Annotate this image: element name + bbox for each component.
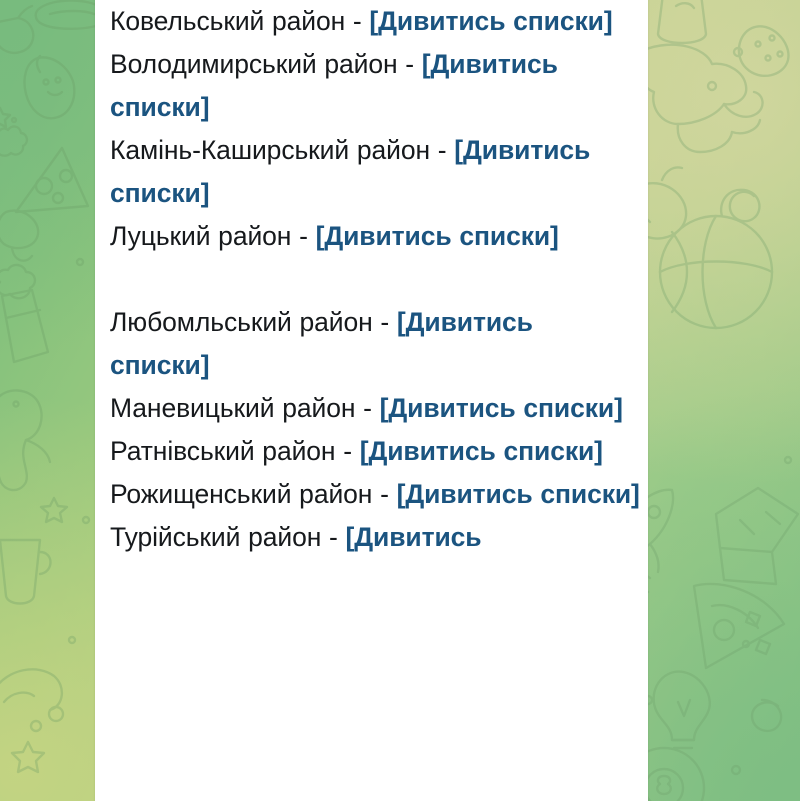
list-item: Турійський район - [Дивитись bbox=[110, 516, 640, 559]
district-name: Любомльський район bbox=[110, 307, 373, 337]
district-name: Володимирський район bbox=[110, 49, 398, 79]
view-lists-link[interactable]: [Дивитись списки] bbox=[360, 436, 603, 466]
district-name: Рожищенський район bbox=[110, 479, 372, 509]
district-name: Камінь-Каширський район bbox=[110, 135, 430, 165]
separator: - bbox=[430, 135, 454, 165]
list-item: Камінь-Каширський район - [Дивитись спис… bbox=[110, 129, 640, 215]
view-lists-link[interactable]: [Дивитись списки] bbox=[369, 6, 612, 36]
district-name: Маневицький район bbox=[110, 393, 355, 423]
message-bubble[interactable]: Ковельський район - [Дивитись списки] Во… bbox=[95, 0, 648, 801]
district-name: Ковельський район bbox=[110, 6, 345, 36]
blank-line bbox=[110, 258, 640, 301]
view-lists-link[interactable]: [Дивитись списки] bbox=[380, 393, 623, 423]
view-lists-link[interactable]: [Дивитись bbox=[346, 522, 482, 552]
list-item: Володимирський район - [Дивитись списки] bbox=[110, 43, 640, 129]
view-lists-link[interactable]: [Дивитись списки] bbox=[397, 479, 640, 509]
separator: - bbox=[372, 479, 396, 509]
separator: - bbox=[345, 6, 369, 36]
list-item: Рожищенський район - [Дивитись списки] bbox=[110, 473, 640, 516]
district-name: Турійський район bbox=[110, 522, 321, 552]
district-name: Ратнівський район bbox=[110, 436, 335, 466]
list-item: Любомльський район - [Дивитись списки] bbox=[110, 301, 640, 387]
screen: Ковельський район - [Дивитись списки] Во… bbox=[0, 0, 800, 801]
list-item: Маневицький район - [Дивитись списки] bbox=[110, 387, 640, 430]
district-name: Луцький район bbox=[110, 221, 291, 251]
list-item: Ратнівський район - [Дивитись списки] bbox=[110, 430, 640, 473]
list-item: Луцький район - [Дивитись списки] bbox=[110, 215, 640, 258]
separator: - bbox=[373, 307, 397, 337]
separator: - bbox=[321, 522, 345, 552]
message-text: Ковельський район - [Дивитись списки] Во… bbox=[110, 0, 640, 559]
separator: - bbox=[335, 436, 359, 466]
list-item: Ковельський район - [Дивитись списки] bbox=[110, 0, 640, 43]
view-lists-link[interactable]: [Дивитись списки] bbox=[316, 221, 559, 251]
separator: - bbox=[291, 221, 315, 251]
separator: - bbox=[355, 393, 379, 423]
separator: - bbox=[398, 49, 422, 79]
